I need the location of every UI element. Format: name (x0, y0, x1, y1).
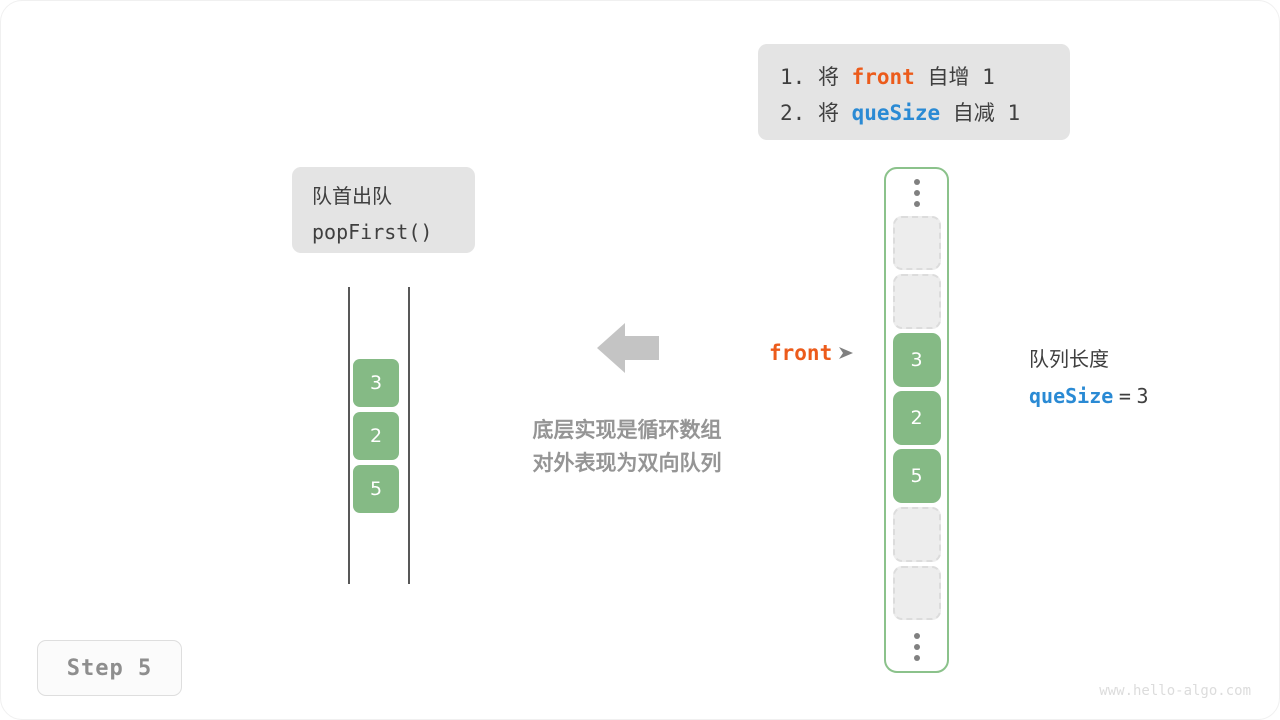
queue-size-value: 3 (1136, 384, 1148, 408)
operation-step-2-index: 2. (780, 101, 805, 125)
operation-callout: 1. 将 front 自增 1 2. 将 queSize 自减 1 (758, 44, 1070, 140)
array-slot-empty (893, 274, 941, 328)
watermark: www.hello-algo.com (1099, 683, 1251, 699)
queue-size-label: 队列长度 (1029, 342, 1149, 378)
array-slot-empty (893, 507, 941, 561)
method-callout-signature: popFirst() (312, 215, 475, 250)
queue-size-annotation: 队列长度 queSize = 3 (1029, 342, 1149, 415)
deque-cell: 3 (353, 359, 399, 407)
operation-step-1-suffix: 自增 (927, 65, 969, 89)
array-slot-filled: 2 (893, 391, 941, 445)
deque-rail-right (408, 287, 410, 584)
operation-step-2-keyword: queSize (852, 101, 941, 125)
deque-rail-left (348, 287, 350, 584)
queue-size-variable: queSize (1029, 384, 1113, 408)
ellipsis-top-icon (914, 169, 920, 216)
operation-step-1: 1. 将 front 自增 1 (780, 59, 1048, 95)
step-badge: Step 5 (37, 640, 182, 696)
operation-step-1-value: 1 (982, 65, 995, 89)
deque-cell: 5 (353, 465, 399, 513)
operation-step-1-keyword: front (852, 65, 915, 89)
method-callout-title: 队首出队 (312, 180, 475, 215)
dequeue-direction-arrow-icon (597, 321, 659, 375)
figure-canvas: 1. 将 front 自增 1 2. 将 queSize 自减 1 队首出队 p… (0, 0, 1280, 720)
method-callout: 队首出队 popFirst() (292, 167, 475, 253)
pointer-arrowhead-icon (838, 346, 854, 360)
front-pointer-label: front (769, 341, 832, 365)
deque-abstract-view: 3 2 5 (341, 287, 421, 587)
queue-size-equals: = (1119, 384, 1131, 408)
queue-size-expression: queSize = 3 (1029, 378, 1149, 415)
circular-array-container: 3 2 5 (884, 167, 949, 673)
operation-step-1-prefix: 将 (818, 65, 839, 89)
deque-cell-list: 3 2 5 (353, 359, 401, 518)
operation-step-2-value: 1 (1007, 101, 1020, 125)
ellipsis-bottom-icon (914, 624, 920, 671)
array-slot-filled: 3 (893, 333, 941, 387)
implementation-caption-line-2: 对外表现为双向队列 (501, 447, 753, 480)
implementation-caption: 底层实现是循环数组 对外表现为双向队列 (501, 414, 753, 480)
array-slot-empty (893, 566, 941, 620)
operation-step-2-prefix: 将 (818, 101, 839, 125)
operation-step-2-suffix: 自减 (953, 101, 995, 125)
operation-step-2: 2. 将 queSize 自减 1 (780, 95, 1048, 131)
front-pointer: front (769, 341, 854, 365)
array-slot-filled: 5 (893, 449, 941, 503)
array-slot-empty (893, 216, 941, 270)
operation-step-1-index: 1. (780, 65, 805, 89)
implementation-caption-line-1: 底层实现是循环数组 (501, 414, 753, 447)
deque-cell: 2 (353, 412, 399, 460)
